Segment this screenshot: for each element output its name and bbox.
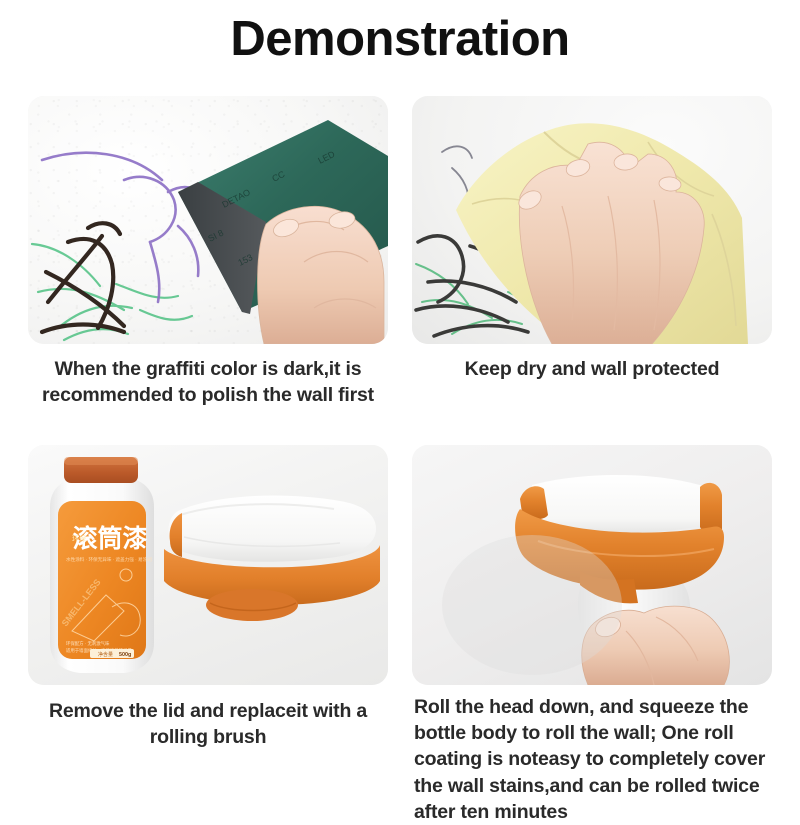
- demonstration-grid: DETAO CC LED SI 8 153: [0, 96, 800, 825]
- page-title: Demonstration: [0, 0, 800, 66]
- wiping-scene: [412, 96, 772, 344]
- svg-text:水性涂料 · 环保无异味 · 遮盖力强 · 易涂刷: 水性涂料 · 环保无异味 · 遮盖力强 · 易涂刷: [66, 556, 152, 563]
- label-weight-badge: 500g: [119, 652, 131, 658]
- panel-polish-wall: DETAO CC LED SI 8 153: [0, 96, 400, 409]
- panel-keep-dry-caption: Keep dry and wall protected: [412, 344, 772, 382]
- label-badge-prefix: 净含量: [98, 651, 113, 658]
- panel-keep-dry: Keep dry and wall protected: [400, 96, 800, 409]
- roller-spout: [206, 589, 298, 621]
- bottle-and-roller-scene: 滚筒漆 环保 水性涂料 · 环保无异味 · 遮盖力强 · 易涂刷 SMELL-L…: [28, 445, 388, 685]
- panel-roll-wall-caption: Roll the head down, and squeeze the bott…: [412, 685, 772, 825]
- roller-brush-head: [164, 495, 380, 620]
- panel-keep-dry-image: [412, 96, 772, 344]
- panel-polish-wall-image: DETAO CC LED SI 8 153: [28, 96, 388, 344]
- panel-replace-lid-caption: Remove the lid and replaceit with a roll…: [28, 685, 388, 751]
- panel-polish-wall-caption: When the graffiti color is dark,it is re…: [28, 344, 388, 409]
- panel-replace-lid-image: 滚筒漆 环保 水性涂料 · 环保无异味 · 遮盖力强 · 易涂刷 SMELL-L…: [28, 445, 388, 685]
- sanding-scene: DETAO CC LED SI 8 153: [28, 96, 388, 344]
- grid-row-2: 滚筒漆 环保 水性涂料 · 环保无异味 · 遮盖力强 · 易涂刷 SMELL-L…: [0, 445, 800, 825]
- svg-text:环保配方 · 无刺激气味: 环保配方 · 无刺激气味: [66, 640, 110, 647]
- paint-bottle: 滚筒漆 环保 水性涂料 · 环保无异味 · 遮盖力强 · 易涂刷 SMELL-L…: [50, 457, 154, 673]
- panel-roll-wall: Roll the head down, and squeeze the bott…: [400, 445, 800, 825]
- label-side-text: 环保: [72, 534, 86, 543]
- grid-row-1: DETAO CC LED SI 8 153: [0, 96, 800, 409]
- rolling-scene: [412, 445, 772, 685]
- panel-roll-wall-image: [412, 445, 772, 685]
- roller-fabric: [168, 495, 376, 561]
- scribble-dark: [42, 223, 124, 332]
- panel-replace-lid: 滚筒漆 环保 水性涂料 · 环保无异味 · 遮盖力强 · 易涂刷 SMELL-L…: [0, 445, 400, 825]
